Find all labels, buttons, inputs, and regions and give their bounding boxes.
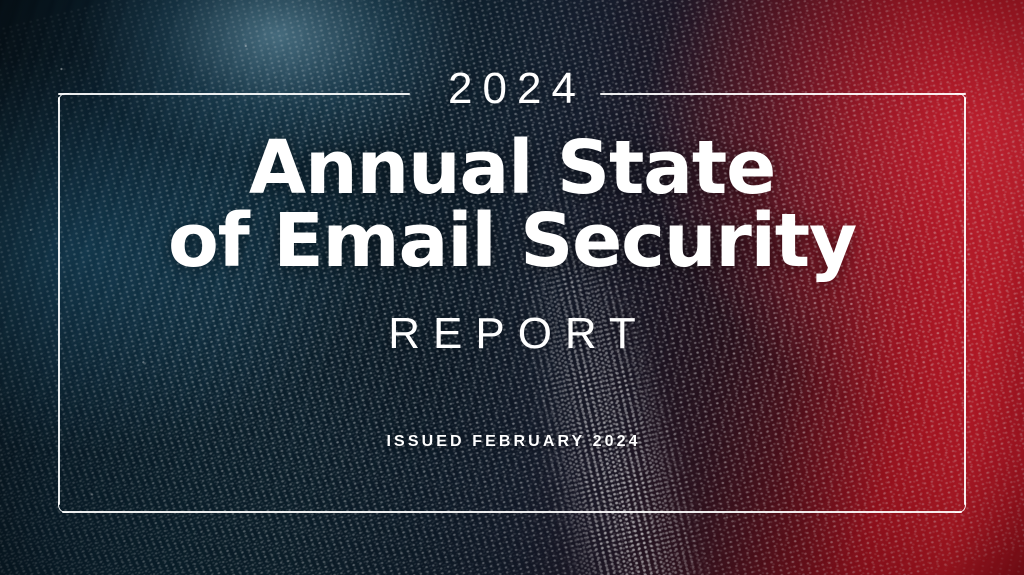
page-title-line-1: Annual State <box>0 132 1024 205</box>
issued-date-label: ISSUED FEBRUARY 2024 <box>0 434 1024 450</box>
report-cover: 2024 Annual State of Email Security REPO… <box>0 0 1024 575</box>
page-subtitle: REPORT <box>0 312 1024 356</box>
cover-content: 2024 Annual State of Email Security REPO… <box>0 0 1024 575</box>
page-title: Annual State of Email Security <box>0 132 1024 279</box>
page-title-line-2: of Email Security <box>0 205 1024 278</box>
year-eyebrow: 2024 <box>0 67 1024 111</box>
